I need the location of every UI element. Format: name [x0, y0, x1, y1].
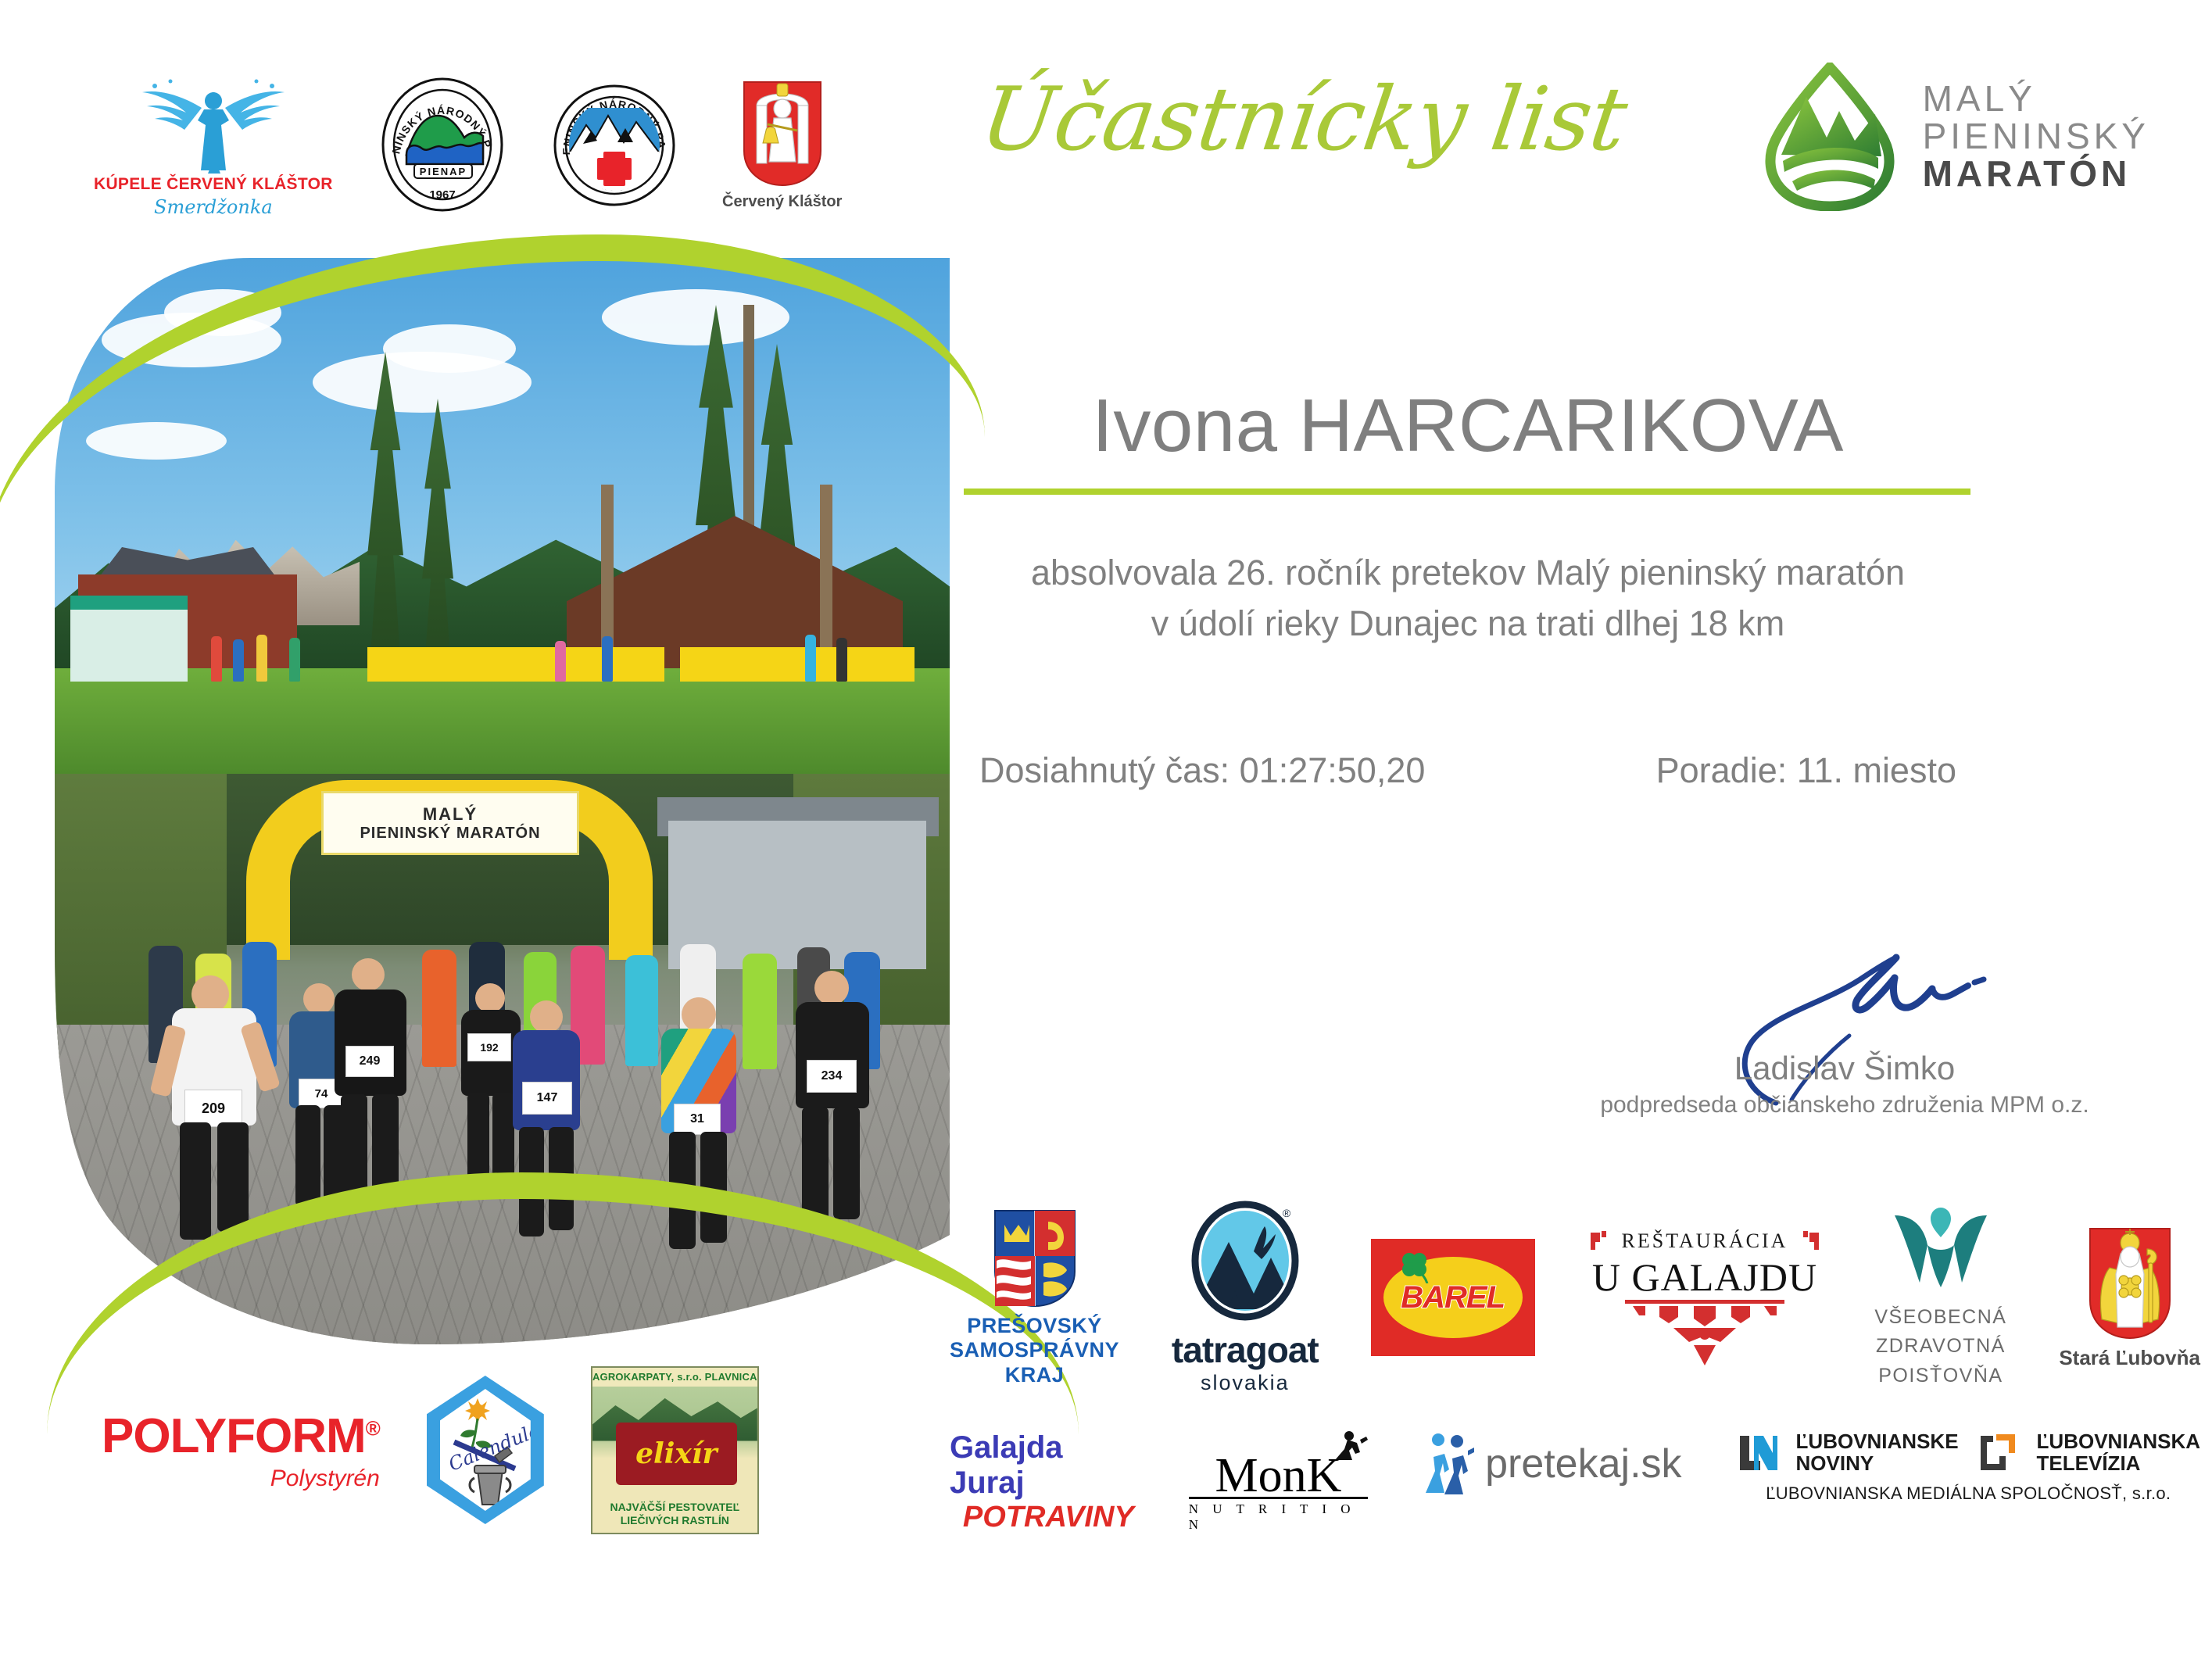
event-brand-logo: MALÝ PIENINSKÝ MARATÓN [1758, 63, 2149, 211]
agrokarpaty-line-2: LIEČIVÝCH RASTLÍN [592, 1514, 757, 1528]
polyform-sub: Polystyrén [270, 1466, 380, 1492]
bib-number: 209 [184, 1090, 242, 1127]
kck-title: KÚPELE ČERVENÝ KLÁŠTOR [94, 175, 333, 194]
brand-line-2: PIENINSKÝ [1923, 118, 2149, 156]
race-start-photo: MALÝ PIENINSKÝ MARATÓN [55, 774, 950, 1344]
lt-line-1: ĽUBOVNIANSKA [2037, 1430, 2200, 1452]
psk-coat-of-arms-icon [992, 1208, 1078, 1309]
svg-text:1967: 1967 [429, 188, 455, 202]
lms-footer: ĽUBOVNIANSKA MEDIÁLNA SPOLOČNOSŤ, s.r.o. [1766, 1483, 2171, 1504]
photo-collage: MALÝ PIENINSKÝ MARATÓN [55, 258, 950, 1344]
bib-number: 192 [467, 1033, 511, 1061]
vzp-line-3: POISŤOVŇA [1874, 1362, 2006, 1391]
tatragoat-name: tatragoat [1172, 1329, 1319, 1371]
sponsor-lubovnianska-medialna-spolocnost: ĽUBOVNIANSKE NOVINY ĽUBOVNIANSKA TELEVÍZ… [1737, 1430, 2200, 1504]
sponsor-row-secondary: Galajda Juraj POTRAVINY MonK N U T R I T… [950, 1430, 2200, 1555]
kck-subtitle: Smerdžonka [154, 196, 273, 218]
arch-line-2: PIENINSKÝ MARATÓN [360, 825, 540, 843]
folk-ornament-left-icon [1587, 1228, 1614, 1254]
signatory-name: Ladislav Šimko [1579, 1050, 2110, 1087]
vzp-line-2: ZDRAVOTNÁ [1874, 1332, 2006, 1362]
lubovnianske-noviny-icon [1737, 1433, 1777, 1472]
stara-lubovna-coat-of-arms-icon [2086, 1226, 2174, 1343]
certificate-description: absolvovala 26. ročník pretekov Malý pie… [964, 547, 1972, 650]
folk-pattern-icon [1619, 1300, 1791, 1367]
race-results: Dosiahnutý čas: 01:27:50,20 Poradie: 11.… [964, 750, 1972, 791]
signature-block: Ladislav Šimko podpredseda občianskeho z… [1579, 950, 2110, 1153]
ugalajdu-top: REŠTAURÁCIA [1622, 1229, 1788, 1253]
angel-water-icon [123, 72, 303, 174]
sponsor-stara-lubovna: Stará Ľubovňa [2059, 1226, 2200, 1370]
achieved-time: Dosiahnutý čas: 01:27:50,20 [979, 750, 1425, 791]
arch-line-1: MALÝ [423, 804, 478, 825]
tatragoat-chamois-icon: ® [1187, 1200, 1304, 1329]
clover-icon [1398, 1249, 1432, 1283]
sponsor-calendula: Calendula [427, 1376, 544, 1524]
logo-pieninsky-narodny-park: PIENINSKÝ NÁRODNÝ PARK PIENAP 1967 [380, 77, 505, 213]
agrokarpaty-line-1: NAJVÄČŠÍ PESTOVATEĽ [592, 1501, 757, 1515]
lubovnianska-televizia-icon [1978, 1433, 2018, 1472]
stara-lubovna-caption: Stará Ľubovňa [2059, 1346, 2200, 1370]
elixir-word: elixír [635, 1437, 717, 1470]
logo-horska-sluzba: PIENINSKÝ NÁRODNÝ PARK HORSKÁ SLUŽBA [552, 77, 677, 213]
signatory-role: podpredseda občianskeho združenia MPM o.… [1579, 1092, 2110, 1118]
ugalajdu-name: U GALAJDU [1592, 1254, 1817, 1300]
sponsor-vseobecna-zdravotna-poistovna: VŠEOBECNÁ ZDRAVOTNÁ POISŤOVŇA [1874, 1204, 2006, 1391]
psk-line-3: KRAJ [950, 1363, 1119, 1387]
sponsor-polyform: POLYFORM® Polystyrén [102, 1408, 380, 1492]
finish-arch: MALÝ PIENINSKÝ MARATÓN [246, 780, 653, 960]
description-line-1: absolvovala 26. ročník pretekov Malý pie… [964, 547, 1972, 598]
amphitheatre-venue-photo [55, 258, 950, 774]
green-divider [964, 489, 1970, 495]
bib-number: 31 [674, 1104, 721, 1135]
folk-ornament-right-icon [1795, 1228, 1822, 1254]
sponsor-pretekaj-sk: pretekaj.sk [1423, 1430, 1681, 1498]
cerveny-klastor-caption: Červený Kláštor [722, 193, 842, 211]
bib-number: 147 [522, 1082, 572, 1115]
ln-line-2: NOVINY [1796, 1452, 1959, 1474]
barel-word: BAREL [1401, 1280, 1505, 1315]
coat-of-arms-icon [739, 79, 825, 188]
registered-mark: ® [1283, 1207, 1291, 1219]
logo-kupele-cerveny-klastor: KÚPELE ČERVENÝ KLÁŠTOR Smerdžonka [94, 72, 333, 218]
sponsor-galajda-juraj: Galajda Juraj POTRAVINY [950, 1430, 1134, 1534]
rank-position: Poradie: 11. miesto [1656, 750, 1956, 791]
sponsor-tatragoat: ® tatragoat slovakia [1172, 1200, 1319, 1395]
description-line-2: v údolí rieky Dunajec na trati dlhej 18 … [964, 598, 1972, 649]
vzp-line-1: VŠEOBECNÁ [1874, 1303, 2006, 1333]
polyform-registered-mark: ® [366, 1416, 380, 1440]
sponsor-presovsky-samospravny-kraj: PREŠOVSKÝ SAMOSPRÁVNY KRAJ [950, 1208, 1119, 1387]
sponsor-row-primary: PREŠOVSKÝ SAMOSPRÁVNY KRAJ ® tatragoat s… [950, 1188, 2200, 1407]
ln-line-1: ĽUBOVNIANSKE [1796, 1430, 1959, 1452]
bib-number: 234 [807, 1060, 857, 1093]
psk-line-2: SAMOSPRÁVNY [950, 1338, 1119, 1362]
vzp-chevron-icon [1890, 1204, 1992, 1298]
brand-line-1: MALÝ [1923, 81, 2149, 118]
logo-cerveny-klastor: Červený Kláštor [724, 79, 841, 211]
lt-line-2: TELEVÍZIA [2037, 1452, 2200, 1474]
agrokarpaty-header: AGROKARPATY, s.r.o. PLAVNICA [592, 1368, 757, 1387]
monk-sub: N U T R I T I O N [1189, 1497, 1368, 1533]
sponsor-barel: BAREL [1371, 1239, 1535, 1356]
brand-line-3: MARATÓN [1923, 156, 2149, 193]
partner-logo-strip: KÚPELE ČERVENÝ KLÁŠTOR Smerdžonka PIENIN… [94, 55, 922, 234]
svg-text:PIENAP: PIENAP [420, 166, 467, 177]
sponsor-row-bottom-left: POLYFORM® Polystyrén [102, 1360, 930, 1540]
bib-number: 249 [345, 1046, 394, 1077]
psk-line-1: PREŠOVSKÝ [950, 1314, 1119, 1338]
sponsor-restauracia-u-galajdu: REŠTAURÁCIA U GALAJDU [1587, 1228, 1823, 1367]
sponsor-agrokarpaty-elixir: AGROKARPATY, s.r.o. PLAVNICA elixír NAJV… [591, 1366, 759, 1534]
galajda-line-1: Galajda Juraj [950, 1430, 1134, 1501]
two-runners-icon [1423, 1430, 1474, 1498]
tatragoat-sub: slovakia [1201, 1371, 1290, 1395]
pretekaj-word: pretekaj.sk [1485, 1440, 1681, 1487]
mountain-leaf-icon [1758, 63, 1902, 211]
page-title: Účastnícky list [972, 69, 1708, 186]
polyform-word: POLYFORM [102, 1409, 366, 1463]
galajda-line-2: POTRAVINY [963, 1501, 1134, 1534]
participant-name: Ivona HARCARIKOVA [964, 383, 1972, 469]
sponsor-monk-nutrition: MonK N U T R I T I O N [1189, 1430, 1368, 1533]
monk-word: MonK [1215, 1455, 1341, 1497]
